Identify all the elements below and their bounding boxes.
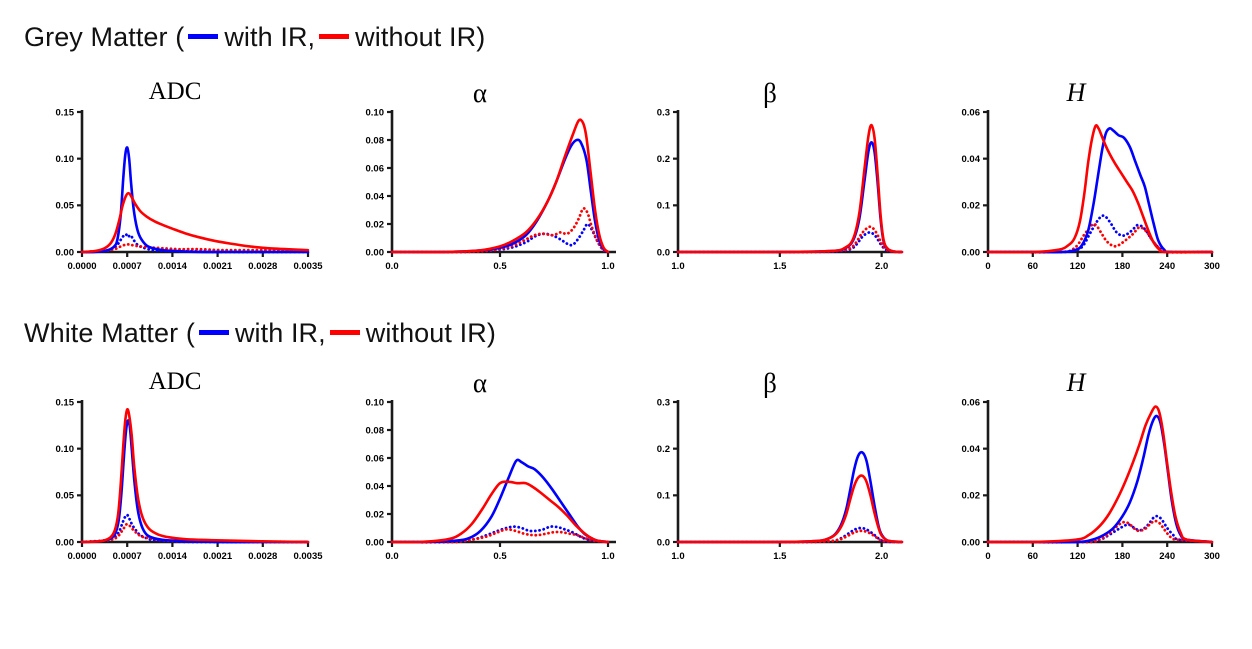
- y-tick-label: 0.04: [962, 444, 981, 455]
- legend-swatch-with-ir: [188, 34, 218, 39]
- series-line: [988, 407, 1212, 543]
- panel-title-gm-adc: ADC: [20, 78, 330, 106]
- chart-svg-wm-beta: 0.00.10.20.31.01.52.0: [620, 394, 920, 578]
- y-tick-label: 0.02: [962, 491, 981, 502]
- x-tick-label: 0.0: [385, 261, 398, 272]
- legend-swatch-without-ir: [330, 330, 360, 335]
- y-tick-label: 0.3: [657, 397, 670, 408]
- y-tick-label: 0.04: [962, 154, 981, 165]
- x-tick-label: 0.5: [493, 261, 507, 272]
- series-line: [988, 128, 1212, 252]
- x-tick-label: 0.0014: [158, 551, 188, 562]
- y-tick-label: 0.00: [962, 247, 981, 258]
- x-tick-label: 2.0: [875, 261, 888, 272]
- x-tick-label: 180: [1114, 551, 1130, 562]
- grey-matter-heading: Grey Matter (with IR,without IR): [24, 22, 485, 53]
- x-tick-label: 0: [985, 551, 990, 562]
- chart-svg-wm-alpha: 0.000.020.040.060.080.100.00.51.0: [330, 394, 630, 578]
- y-tick-label: 0.1: [657, 201, 671, 212]
- series-line: [392, 529, 608, 542]
- series-line: [392, 526, 608, 542]
- x-tick-label: 1.5: [773, 551, 787, 562]
- y-tick-label: 0.1: [657, 491, 671, 502]
- plot-wm-h: 0.000.020.040.06060120180240300: [920, 394, 1232, 578]
- plot-gm-beta: 0.00.10.20.31.01.52.0: [620, 104, 920, 288]
- series-line: [82, 409, 308, 542]
- y-tick-label: 0.00: [962, 537, 981, 548]
- series-line: [988, 125, 1212, 252]
- x-tick-label: 180: [1114, 261, 1130, 272]
- x-tick-label: 0.0000: [67, 261, 96, 272]
- chart-svg-wm-adc: 0.000.050.100.150.00000.00070.00140.0021…: [20, 394, 330, 578]
- y-tick-label: 0.00: [56, 537, 75, 548]
- series-line: [678, 232, 902, 252]
- y-tick-label: 0.08: [366, 425, 385, 436]
- chart-svg-gm-alpha: 0.000.020.040.060.080.100.00.51.0: [330, 104, 630, 288]
- legend-label-with-ir: with IR,: [224, 22, 315, 52]
- panel-gm-alpha: α 0.000.020.040.060.080.100.00.51.0: [330, 78, 630, 288]
- y-tick-label: 0.2: [657, 444, 670, 455]
- x-tick-label: 0.0021: [203, 261, 233, 272]
- y-tick-label: 0.05: [56, 201, 75, 212]
- y-tick-label: 0.06: [366, 453, 385, 464]
- y-tick-label: 0.2: [657, 154, 670, 165]
- y-tick-label: 0.06: [366, 163, 385, 174]
- x-tick-label: 1.0: [601, 551, 614, 562]
- y-tick-label: 0.06: [962, 397, 981, 408]
- grey-matter-section: Grey Matter (with IR,without IR) ADC 0.0…: [0, 22, 1252, 302]
- panel-wm-beta: β 0.00.10.20.31.01.52.0: [620, 368, 920, 578]
- legend-label-without-ir: without IR): [366, 318, 496, 348]
- y-tick-label: 0.04: [366, 481, 385, 492]
- x-tick-label: 0: [985, 261, 990, 272]
- white-matter-heading: White Matter (with IR,without IR): [24, 318, 496, 349]
- plot-wm-beta: 0.00.10.20.31.01.52.0: [620, 394, 920, 578]
- y-tick-label: 0.02: [366, 219, 385, 230]
- x-tick-label: 0.0007: [113, 261, 142, 272]
- chart-svg-gm-h: 0.000.020.040.06060120180240300: [920, 104, 1232, 288]
- y-tick-label: 0.00: [366, 537, 385, 548]
- y-tick-label: 0.0: [657, 247, 670, 258]
- legend-swatch-without-ir: [319, 34, 349, 39]
- y-tick-label: 0.10: [56, 444, 75, 455]
- x-tick-label: 0.0035: [293, 551, 323, 562]
- y-tick-label: 0.10: [56, 154, 75, 165]
- series-line: [988, 216, 1212, 253]
- x-tick-label: 0.0021: [203, 551, 233, 562]
- series-line: [678, 227, 902, 252]
- chart-svg-gm-beta: 0.00.10.20.31.01.52.0: [620, 104, 920, 288]
- x-tick-label: 2.0: [875, 551, 888, 562]
- y-tick-label: 0.00: [366, 247, 385, 258]
- series-line: [678, 531, 902, 542]
- white-matter-prefix: White Matter (: [24, 318, 195, 348]
- x-tick-label: 0.5: [493, 551, 507, 562]
- x-tick-label: 300: [1204, 551, 1220, 562]
- plot-gm-adc: 0.000.050.100.150.00000.00070.00140.0021…: [20, 104, 330, 288]
- series-line: [392, 140, 608, 252]
- legend-label-with-ir: with IR,: [235, 318, 326, 348]
- x-tick-label: 0.0000: [67, 551, 96, 562]
- y-tick-label: 0.3: [657, 107, 670, 118]
- panel-wm-h: H 0.000.020.040.06060120180240300: [920, 368, 1232, 578]
- chart-svg-wm-h: 0.000.020.040.06060120180240300: [920, 394, 1232, 578]
- y-tick-label: 0.06: [962, 107, 981, 118]
- panel-title-wm-adc: ADC: [20, 368, 330, 396]
- x-tick-label: 0.0: [385, 551, 398, 562]
- legend-label-without-ir: without IR): [355, 22, 485, 52]
- legend-swatch-with-ir: [199, 330, 229, 335]
- y-tick-label: 0.04: [366, 191, 385, 202]
- series-line: [678, 452, 902, 542]
- series-line: [392, 460, 608, 542]
- x-tick-label: 120: [1070, 551, 1086, 562]
- y-tick-label: 0.10: [366, 107, 385, 118]
- x-tick-label: 240: [1159, 551, 1175, 562]
- white-matter-section: White Matter (with IR,without IR) ADC 0.…: [0, 318, 1252, 598]
- x-tick-label: 0.0014: [158, 261, 188, 272]
- panel-gm-beta: β 0.00.10.20.31.01.52.0: [620, 78, 920, 288]
- panel-wm-alpha: α 0.000.020.040.060.080.100.00.51.0: [330, 368, 630, 578]
- plot-gm-alpha: 0.000.020.040.060.080.100.00.51.0: [330, 104, 630, 288]
- plot-wm-adc: 0.000.050.100.150.00000.00070.00140.0021…: [20, 394, 330, 578]
- series-line: [678, 142, 902, 252]
- x-tick-label: 0.0007: [113, 551, 142, 562]
- x-tick-label: 1.0: [671, 261, 684, 272]
- y-tick-label: 0.15: [56, 107, 75, 118]
- x-tick-label: 120: [1070, 261, 1086, 272]
- y-tick-label: 0.02: [366, 509, 385, 520]
- x-tick-label: 240: [1159, 261, 1175, 272]
- grey-matter-prefix: Grey Matter (: [24, 22, 184, 52]
- x-tick-label: 60: [1028, 551, 1039, 562]
- x-tick-label: 1.5: [773, 261, 787, 272]
- x-tick-label: 60: [1028, 261, 1039, 272]
- x-tick-label: 0.0028: [248, 551, 277, 562]
- panel-gm-h: H 0.000.020.040.06060120180240300: [920, 78, 1232, 288]
- chart-svg-gm-adc: 0.000.050.100.150.00000.00070.00140.0021…: [20, 104, 330, 288]
- x-tick-label: 1.0: [671, 551, 684, 562]
- y-tick-label: 0.05: [56, 491, 75, 502]
- series-line: [988, 224, 1212, 252]
- series-line: [678, 528, 902, 542]
- plot-wm-alpha: 0.000.020.040.060.080.100.00.51.0: [330, 394, 630, 578]
- y-tick-label: 0.00: [56, 247, 75, 258]
- x-tick-label: 300: [1204, 261, 1220, 272]
- panel-gm-adc: ADC 0.000.050.100.150.00000.00070.00140.…: [20, 78, 330, 288]
- y-tick-label: 0.0: [657, 537, 670, 548]
- panel-wm-adc: ADC 0.000.050.100.150.00000.00070.00140.…: [20, 368, 330, 578]
- x-tick-label: 0.0028: [248, 261, 277, 272]
- y-tick-label: 0.15: [56, 397, 75, 408]
- y-tick-label: 0.08: [366, 135, 385, 146]
- y-tick-label: 0.10: [366, 397, 385, 408]
- plot-gm-h: 0.000.020.040.06060120180240300: [920, 104, 1232, 288]
- y-tick-label: 0.02: [962, 201, 981, 212]
- x-tick-label: 0.0035: [293, 261, 323, 272]
- x-tick-label: 1.0: [601, 261, 614, 272]
